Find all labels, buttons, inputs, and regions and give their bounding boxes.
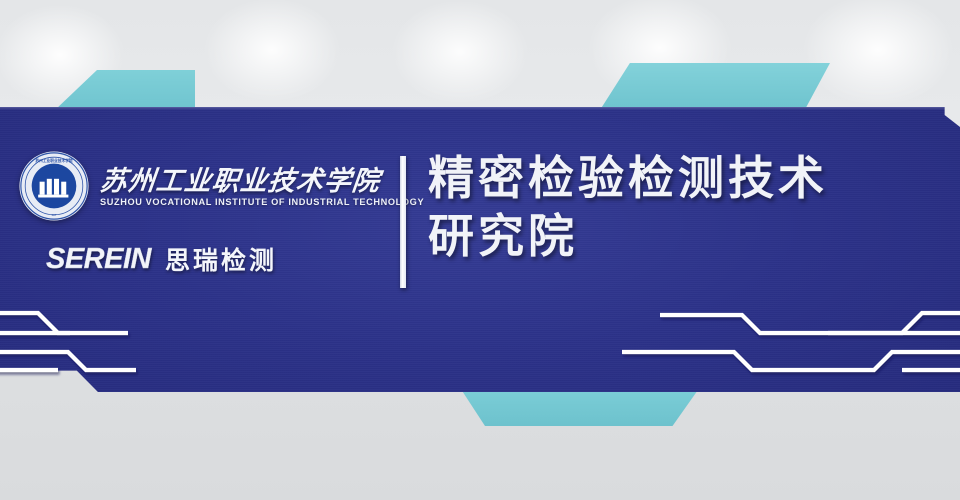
university-name-block: 苏州工业职业技术学院 SUZHOU VOCATIONAL INSTITUTE O… [100,165,424,207]
signage-content: 苏州工业职业技术学院 SIIT 苏州工业职业技术学院 SUZHOU VOCATI… [0,150,960,310]
svg-text:SIIT: SIIT [51,213,57,217]
university-emblem-icon: 苏州工业职业技术学院 SIIT [18,150,90,222]
university-name-en: SUZHOU VOCATIONAL INSTITUTE OF INDUSTRIA… [100,197,424,207]
partner-logo-row: SEREIN 思瑞检测 [46,241,400,277]
university-row: 苏州工业职业技术学院 SIIT 苏州工业职业技术学院 SUZHOU VOCATI… [18,150,400,222]
svg-text:苏州工业职业技术学院: 苏州工业职业技术学院 [35,158,73,163]
partner-name-en: SEREIN [46,243,151,276]
institute-title: 精密检验检测技术 研究院 [428,150,948,265]
institute-title-line2: 研究院 [428,208,948,266]
brand-block: 苏州工业职业技术学院 SIIT 苏州工业职业技术学院 SUZHOU VOCATI… [0,150,400,277]
signage-photo: 苏州工业职业技术学院 SIIT 苏州工业职业技术学院 SUZHOU VOCATI… [0,0,960,500]
institute-title-line1: 精密检验检测技术 [428,150,948,208]
university-name-cn: 苏州工业职业技术学院 [99,167,426,195]
partner-name-cn: 思瑞检测 [165,241,277,277]
teal-accent-top-right [600,63,830,110]
